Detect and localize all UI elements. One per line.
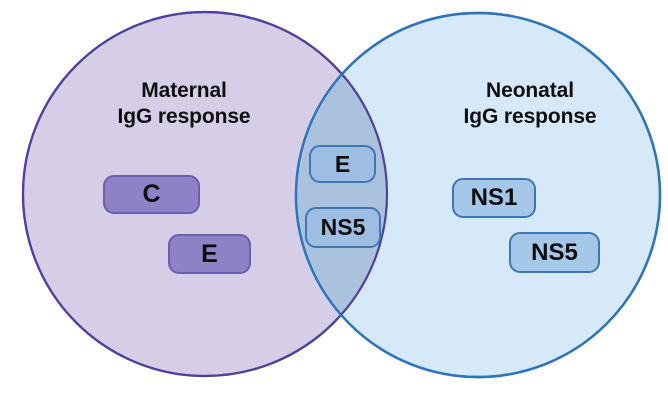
chip-shared-ns5: NS5: [305, 207, 381, 248]
venn-circles-svg: [0, 0, 668, 405]
chip-neonatal-ns1: NS1: [452, 178, 536, 218]
chip-shared-e: E: [309, 145, 376, 183]
chip-neonatal-ns5: NS5: [509, 232, 600, 273]
venn-diagram-canvas: Maternal IgG response Neonatal IgG respo…: [0, 0, 668, 405]
chip-maternal-c: C: [103, 175, 200, 214]
chip-maternal-e: E: [168, 234, 251, 274]
